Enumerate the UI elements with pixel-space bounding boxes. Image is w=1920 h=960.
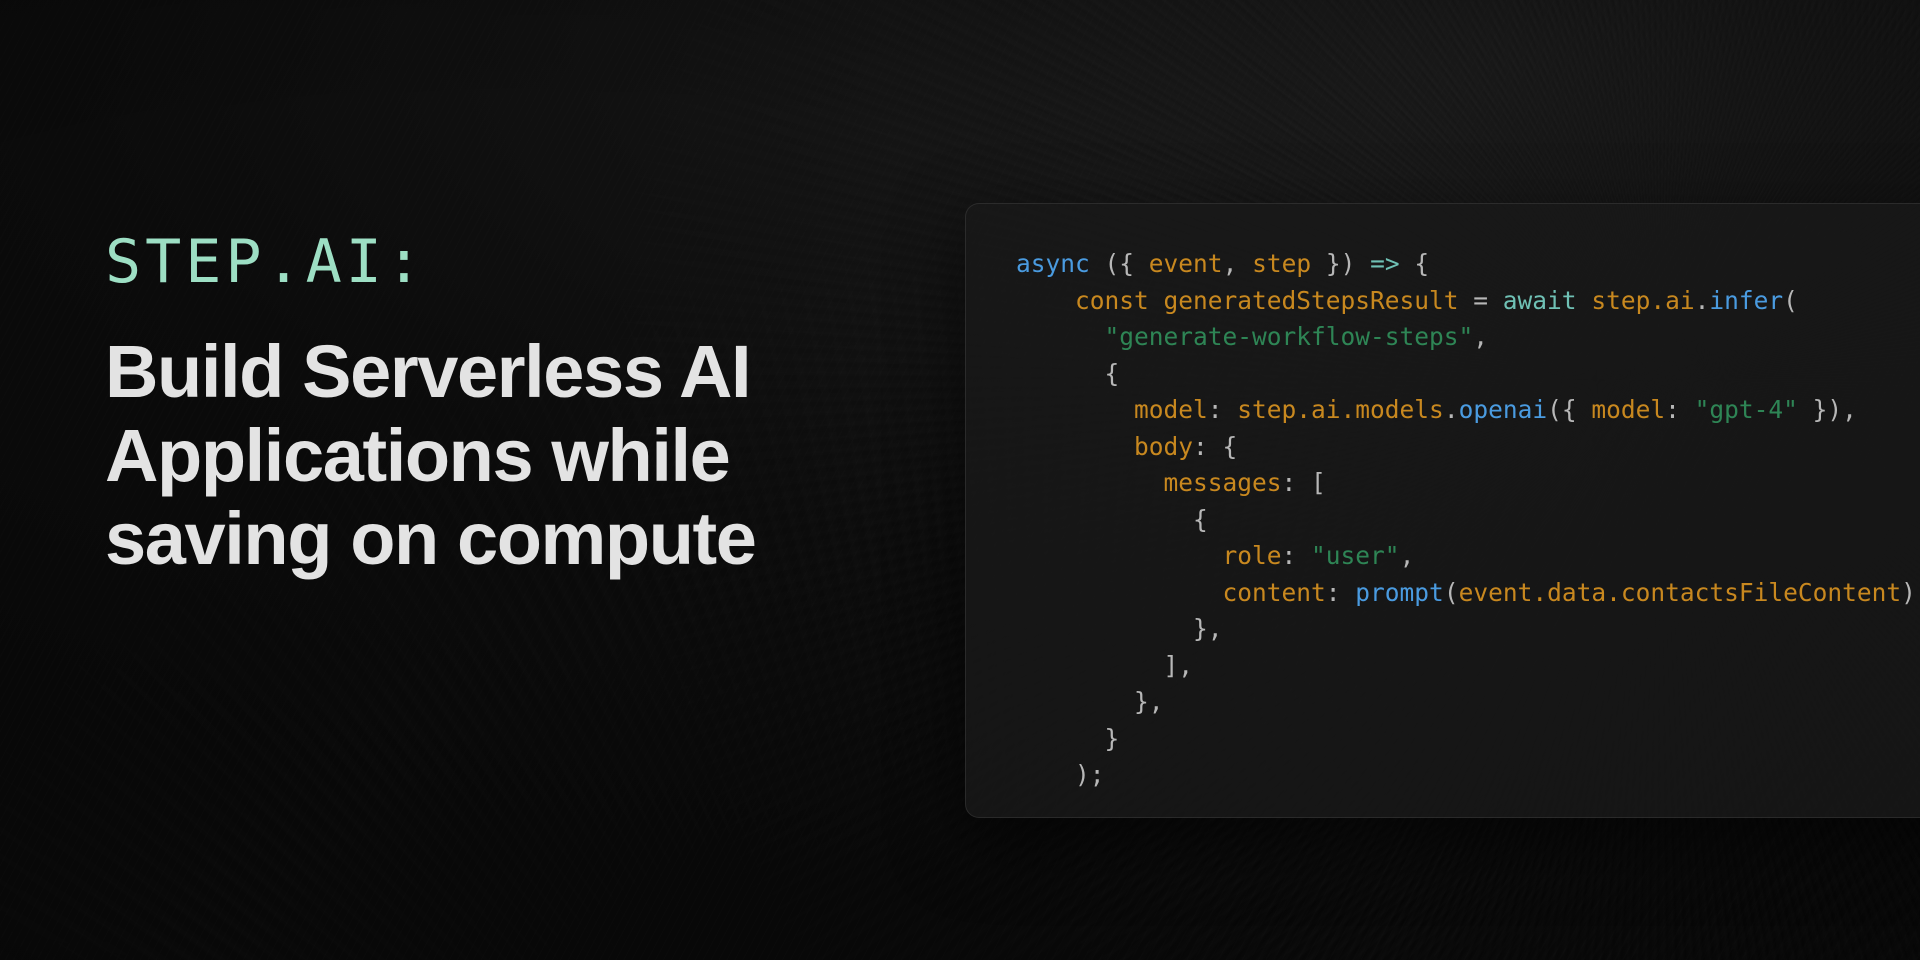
code-token: :: [1665, 395, 1695, 424]
code-token: [1016, 395, 1134, 424]
code-token: }),: [1798, 395, 1857, 424]
code-token: :: [1282, 541, 1312, 570]
code-token: [1016, 541, 1223, 570]
hero-banner: STEP.AI: Build Serverless AI Application…: [0, 0, 1920, 960]
code-token: ,: [1473, 322, 1488, 351]
code-token: body: [1134, 432, 1193, 461]
code-token: (: [1783, 286, 1798, 315]
code-token: content: [1223, 578, 1326, 607]
code-token: "user": [1311, 541, 1400, 570]
code-token: },: [1016, 687, 1164, 716]
code-token: [1016, 468, 1164, 497]
code-line: },: [1016, 611, 1920, 648]
code-line: "generate-workflow-steps",: [1016, 319, 1920, 356]
code-token: [1016, 322, 1105, 351]
code-token: :: [1326, 578, 1356, 607]
code-line: messages: [: [1016, 465, 1920, 502]
code-token: .: [1444, 395, 1459, 424]
code-line: },: [1016, 684, 1920, 721]
hero-copy: STEP.AI: Build Serverless AI Application…: [105, 232, 965, 581]
code-token: .: [1695, 286, 1710, 315]
code-token: step: [1252, 249, 1311, 278]
code-token: [1090, 249, 1105, 278]
code-token: "gpt-4": [1695, 395, 1798, 424]
code-token: {: [1016, 505, 1208, 534]
code-token: {: [1400, 249, 1430, 278]
code-token: ({: [1547, 395, 1591, 424]
code-token: async: [1016, 249, 1090, 278]
code-line: }: [1016, 721, 1920, 758]
code-line: const generatedStepsResult = await step.…: [1016, 283, 1920, 320]
page-title: Build Serverless AI Applications while s…: [105, 330, 935, 581]
code-token: ,: [1223, 249, 1253, 278]
code-token: event: [1149, 249, 1223, 278]
code-token: step.ai.models: [1237, 395, 1444, 424]
code-token: (: [1444, 578, 1459, 607]
code-token: model: [1591, 395, 1665, 424]
code-token: : {: [1193, 432, 1237, 461]
code-line: {: [1016, 502, 1920, 539]
code-token: prompt: [1355, 578, 1444, 607]
code-token: ,: [1400, 541, 1415, 570]
code-line: );: [1016, 757, 1920, 794]
code-token: : [: [1282, 468, 1326, 497]
code-token: [1016, 286, 1075, 315]
code-token: event.data.contactsFileContent: [1459, 578, 1902, 607]
code-token: }): [1311, 249, 1370, 278]
code-line: ],: [1016, 648, 1920, 685]
code-token: infer: [1709, 286, 1783, 315]
code-token: );: [1016, 760, 1105, 789]
code-token: await: [1503, 286, 1577, 315]
code-token: =: [1459, 286, 1503, 315]
code-token: ),: [1901, 578, 1920, 607]
code-line: body: {: [1016, 429, 1920, 466]
code-line: async ({ event, step }) => {: [1016, 246, 1920, 283]
code-token: const generatedStepsResult: [1075, 286, 1459, 315]
code-token: :: [1208, 395, 1238, 424]
code-block: async ({ event, step }) => { const gener…: [1016, 246, 1920, 794]
code-token: messages: [1164, 468, 1282, 497]
code-token: [1016, 578, 1223, 607]
code-token: },: [1016, 614, 1223, 643]
code-token: "generate-workflow-steps": [1105, 322, 1474, 351]
code-token: =>: [1370, 249, 1400, 278]
code-line: {: [1016, 356, 1920, 393]
hero-eyebrow: STEP.AI:: [105, 232, 965, 292]
code-token: model: [1134, 395, 1208, 424]
code-token: ({: [1105, 249, 1149, 278]
code-snippet-card: async ({ event, step }) => { const gener…: [965, 203, 1920, 818]
code-token: [1577, 286, 1592, 315]
code-token: }: [1016, 724, 1119, 753]
code-token: ],: [1016, 651, 1193, 680]
code-token: [1016, 432, 1134, 461]
code-line: model: step.ai.models.openai({ model: "g…: [1016, 392, 1920, 429]
code-token: {: [1016, 359, 1119, 388]
code-line: content: prompt(event.data.contactsFileC…: [1016, 575, 1920, 612]
code-token: openai: [1459, 395, 1548, 424]
code-line: role: "user",: [1016, 538, 1920, 575]
code-token: step.ai: [1591, 286, 1694, 315]
code-token: role: [1223, 541, 1282, 570]
